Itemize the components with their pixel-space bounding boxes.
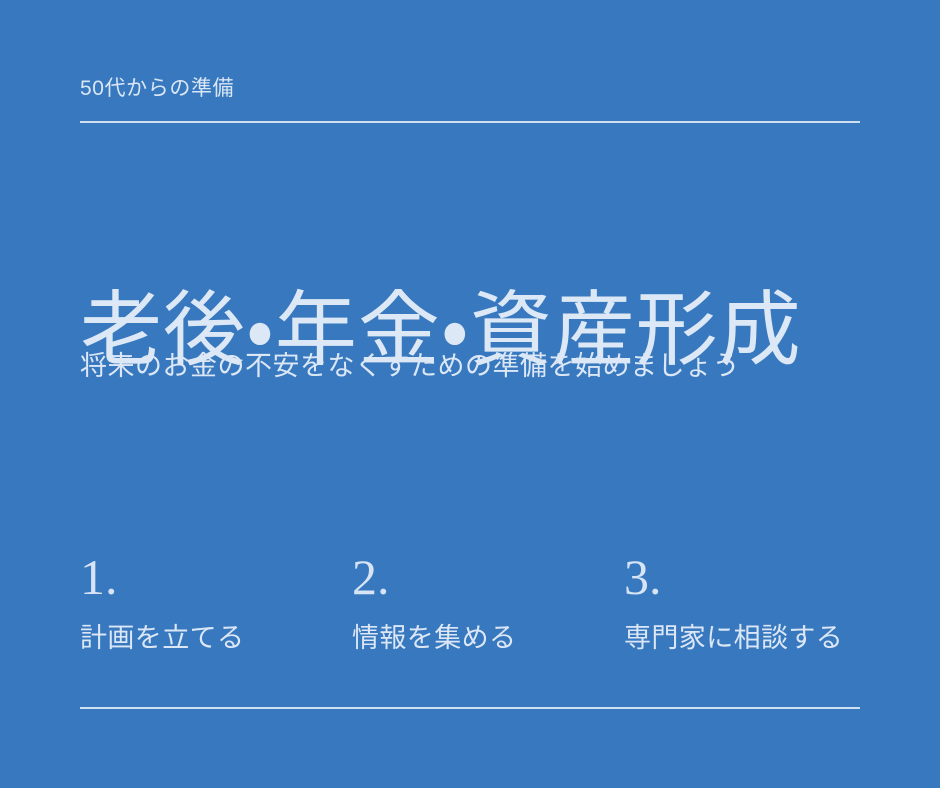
steps-list: 1. 計画を立てる 2. 情報を集める 3. 専門家に相談する — [80, 552, 880, 656]
eyebrow-label: 50代からの準備 — [80, 76, 234, 101]
step-number: 2. — [352, 552, 624, 602]
page-subtitle: 将来のお金の不安をなくすための準備を始めましょう — [80, 348, 740, 384]
divider-bottom — [80, 707, 860, 709]
step-number: 1. — [80, 552, 352, 602]
step-item-3: 3. 専門家に相談する — [624, 552, 880, 656]
step-number: 3. — [624, 552, 880, 602]
slide-canvas: 50代からの準備 老後・年金・資産形成 将来のお金の不安をなくすための準備を始め… — [0, 0, 940, 788]
step-label: 計画を立てる — [80, 622, 352, 656]
step-item-1: 1. 計画を立てる — [80, 552, 352, 656]
step-label: 情報を集める — [352, 622, 624, 656]
step-label: 専門家に相談する — [624, 622, 880, 656]
step-item-2: 2. 情報を集める — [352, 552, 624, 656]
divider-top — [80, 121, 860, 123]
